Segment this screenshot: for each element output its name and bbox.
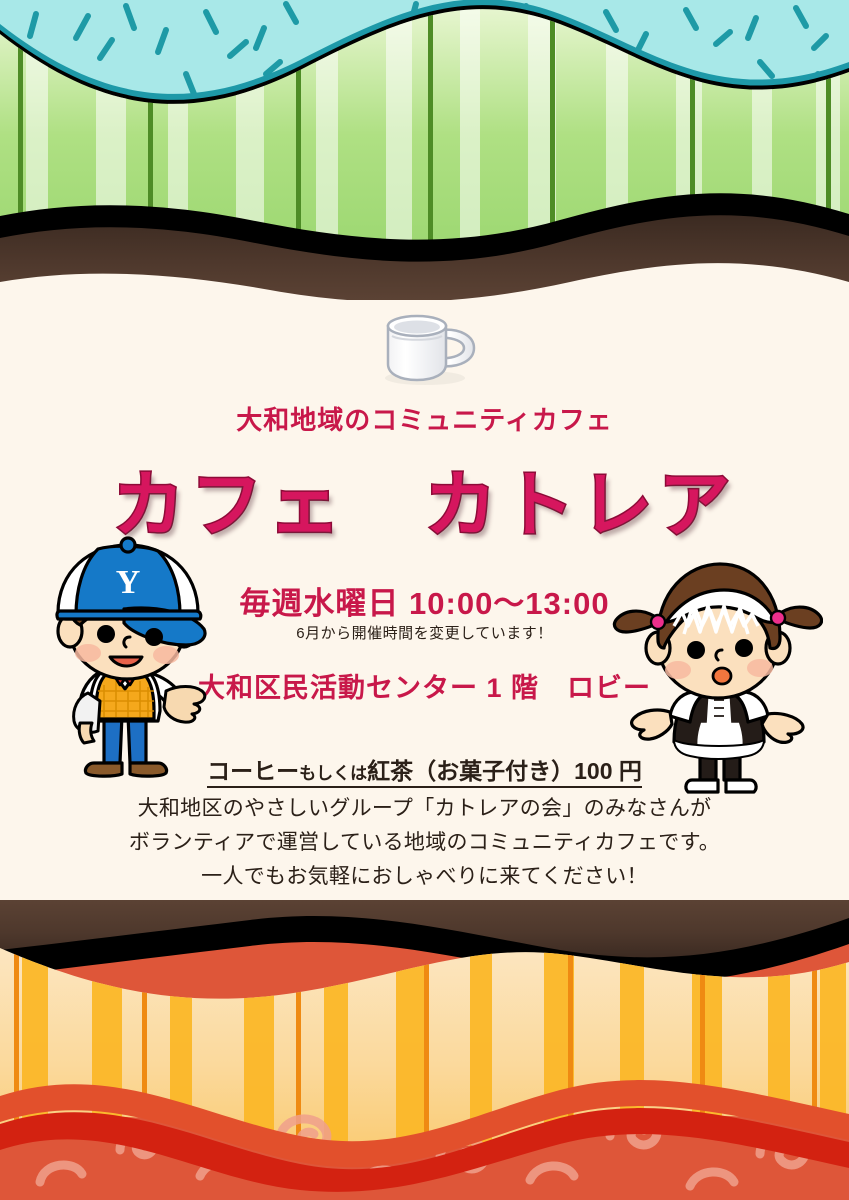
right-eye (145, 628, 163, 646)
left-eye (97, 625, 115, 643)
poster: 大和地域のコミュニティカフェ カフェ カトレア 毎週水曜日 10:00〜13:0… (0, 0, 849, 1200)
right-eye (735, 639, 753, 657)
top-decoration-band (0, 0, 849, 300)
price-conjunction: もしくは (299, 764, 367, 783)
left-eye (687, 641, 705, 659)
mouth (713, 668, 731, 684)
description-line-2: ボランティアで運営している地域のコミュニティカフェです。 (0, 826, 849, 860)
coffee-cup-icon (370, 304, 480, 388)
girl-mascot-illustration (608, 528, 823, 813)
boy-mascot-illustration: Y (32, 505, 222, 800)
hair-tie-left (651, 615, 665, 629)
coffee-cup-illustration (0, 304, 849, 393)
hair-tie-right (771, 611, 785, 625)
subtitle: 大和地域のコミュニティカフェ (0, 400, 849, 437)
description-line-3: 一人でもお気軽におしゃべりに来てください！ (0, 860, 849, 894)
price-item-tea: 紅茶（お菓子付き） (367, 758, 574, 784)
bottom-decoration-band (0, 900, 849, 1200)
cap-letter: Y (116, 564, 141, 601)
